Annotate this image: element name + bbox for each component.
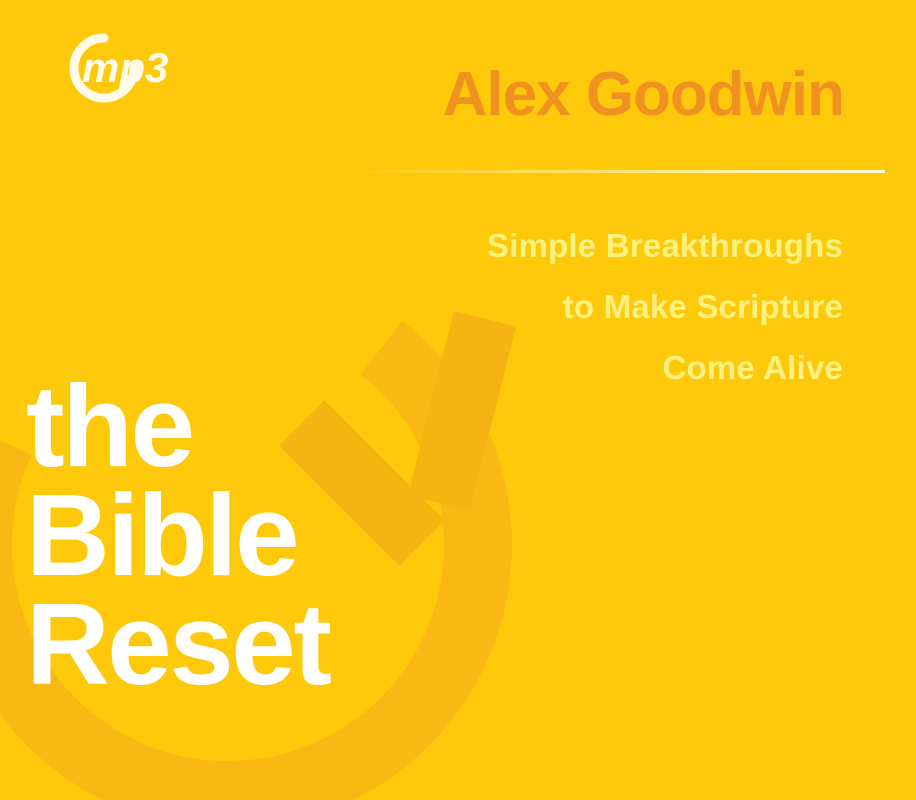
mp3-badge-label: mp3 — [82, 44, 168, 91]
title-line-2: Bible — [26, 481, 329, 590]
mp3-badge: mp3 — [42, 28, 182, 118]
mp3-disc-icon: mp3 — [42, 28, 182, 118]
subtitle-line-1: Simple Breakthroughs — [223, 215, 843, 276]
author-name: Alex Goodwin — [284, 62, 844, 127]
title-line-3: Reset — [26, 590, 329, 699]
divider — [352, 170, 885, 173]
audiobook-cover: mp3 Alex Goodwin Simple Breakthroughs to… — [0, 0, 916, 800]
subtitle-line-2: to Make Scripture — [223, 276, 843, 337]
page-title: the Bible Reset — [26, 372, 329, 699]
subtitle: Simple Breakthroughs to Make Scripture C… — [223, 215, 843, 398]
title-line-1: the — [26, 372, 329, 481]
